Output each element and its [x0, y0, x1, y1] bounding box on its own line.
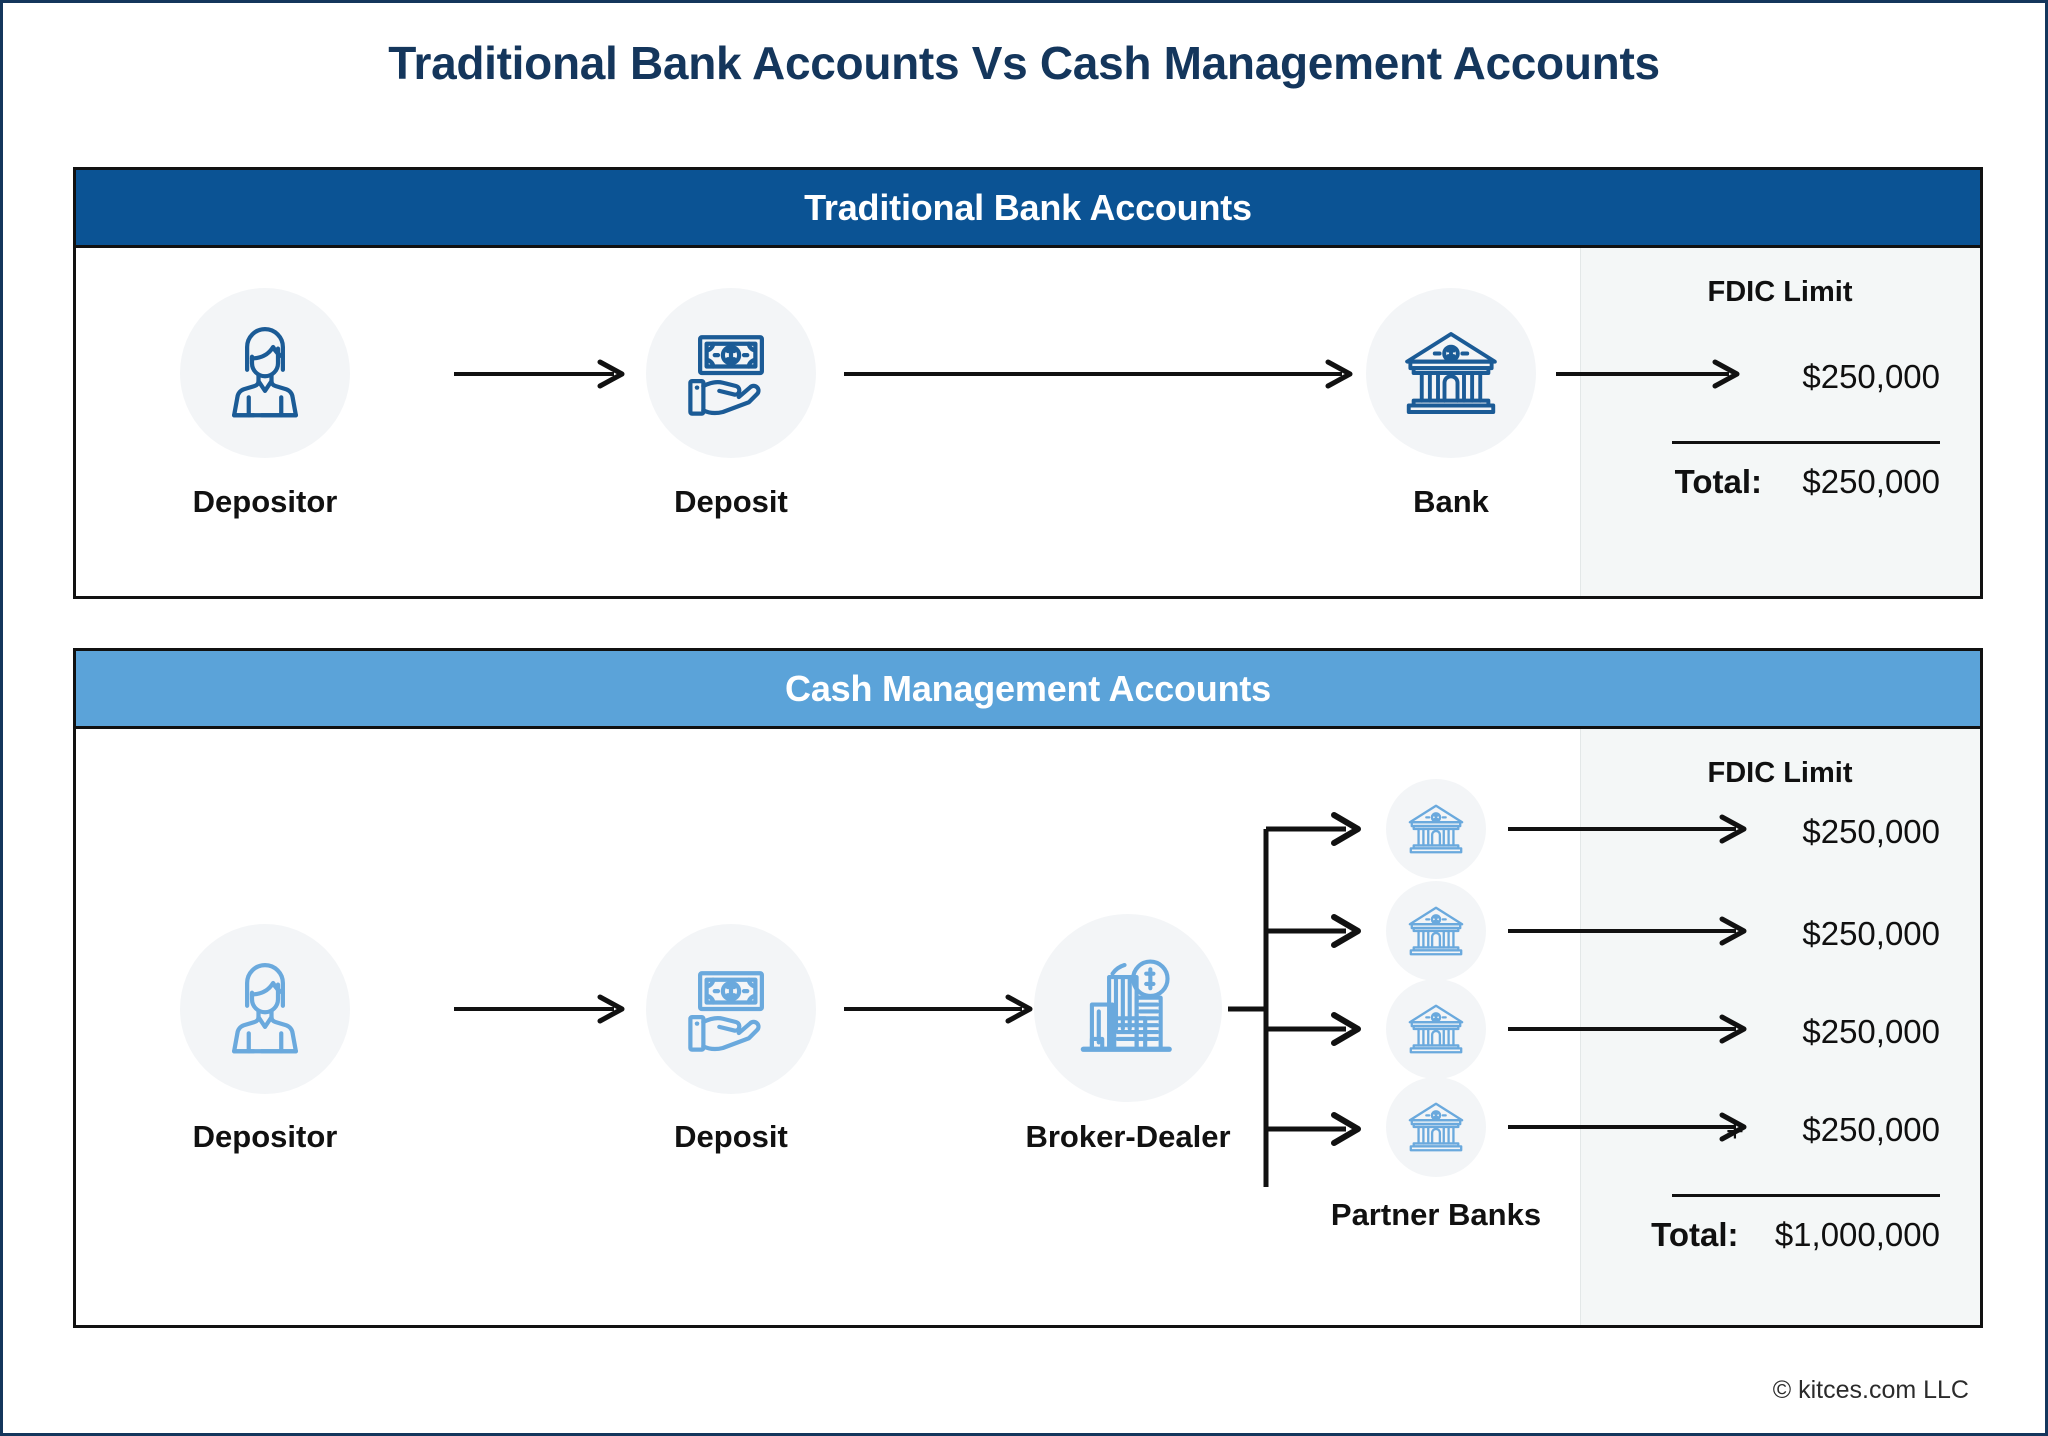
fdic-total-rule — [1672, 441, 1940, 444]
arrow-bank-to-fdic — [1556, 354, 1741, 394]
node-label-depositor: Depositor — [180, 1119, 350, 1155]
arrow-partner-bank-1-to-fdic — [1508, 809, 1748, 849]
infographic-page: Traditional Bank Accounts Vs Cash Manage… — [0, 0, 2048, 1436]
fdic-total-row: Total: $1,000,000 — [1651, 1216, 1940, 1254]
total-label: Total: — [1675, 463, 1762, 500]
node-label-partner-banks: Partner Banks — [1306, 1197, 1566, 1233]
total-value: $1,000,000 — [1775, 1216, 1940, 1253]
fdic-limit-title-cash-management: FDIC Limit — [1580, 757, 1980, 790]
node-label-deposit: Deposit — [646, 484, 816, 520]
section-header-traditional: Traditional Bank Accounts — [76, 170, 1980, 248]
arrow-partner-bank-4-to-fdic — [1508, 1107, 1748, 1147]
fdic-limit-title-traditional: FDIC Limit — [1580, 276, 1980, 309]
arrow-deposit-to-broker-dealer — [844, 989, 1034, 1029]
section-body-cash-management: FDIC Limit Depositor — [76, 729, 1980, 1325]
node-label-broker-dealer: Broker-Dealer — [992, 1119, 1264, 1155]
fdic-value: $250,000 — [1802, 1013, 1940, 1051]
page-title: Traditional Bank Accounts Vs Cash Manage… — [3, 36, 2045, 90]
section-cash-management-accounts: Cash Management Accounts FDIC Limit — [73, 648, 1983, 1328]
arrow-depositor-to-deposit — [454, 989, 626, 1029]
branch-connector — [1228, 799, 1376, 1219]
arrow-depositor-to-deposit — [454, 354, 626, 394]
bank-icon — [1386, 779, 1486, 879]
bank-icon — [1366, 288, 1536, 458]
total-label: Total: — [1651, 1216, 1738, 1253]
fdic-value: $250,000 — [1802, 813, 1940, 851]
node-label-depositor: Depositor — [180, 484, 350, 520]
section-body-traditional: FDIC Limit Depositor — [76, 248, 1980, 596]
fdic-value: $250,000 — [1802, 358, 1940, 396]
section-traditional-bank-accounts: Traditional Bank Accounts FDIC Limit — [73, 167, 1983, 599]
bank-icon — [1386, 1077, 1486, 1177]
bank-icon — [1386, 979, 1486, 1079]
hand-cash-icon — [646, 924, 816, 1094]
arrow-deposit-to-bank — [844, 354, 1354, 394]
plus-sign: + — [1726, 1113, 1744, 1149]
bank-icon — [1386, 881, 1486, 981]
office-coin-icon — [1034, 914, 1222, 1102]
person-icon — [180, 288, 350, 458]
total-value: $250,000 — [1802, 463, 1940, 500]
person-icon — [180, 924, 350, 1094]
fdic-value: $250,000 — [1802, 1111, 1940, 1149]
arrow-partner-bank-2-to-fdic — [1508, 911, 1748, 951]
fdic-total-rule — [1672, 1194, 1940, 1197]
node-label-deposit: Deposit — [646, 1119, 816, 1155]
copyright-notice: © kitces.com LLC — [1773, 1376, 1969, 1405]
arrow-partner-bank-3-to-fdic — [1508, 1009, 1748, 1049]
section-header-cash-management: Cash Management Accounts — [76, 651, 1980, 729]
node-label-bank: Bank — [1366, 484, 1536, 520]
fdic-total-row: Total: $250,000 — [1675, 463, 1940, 501]
hand-cash-icon — [646, 288, 816, 458]
fdic-value: $250,000 — [1802, 915, 1940, 953]
